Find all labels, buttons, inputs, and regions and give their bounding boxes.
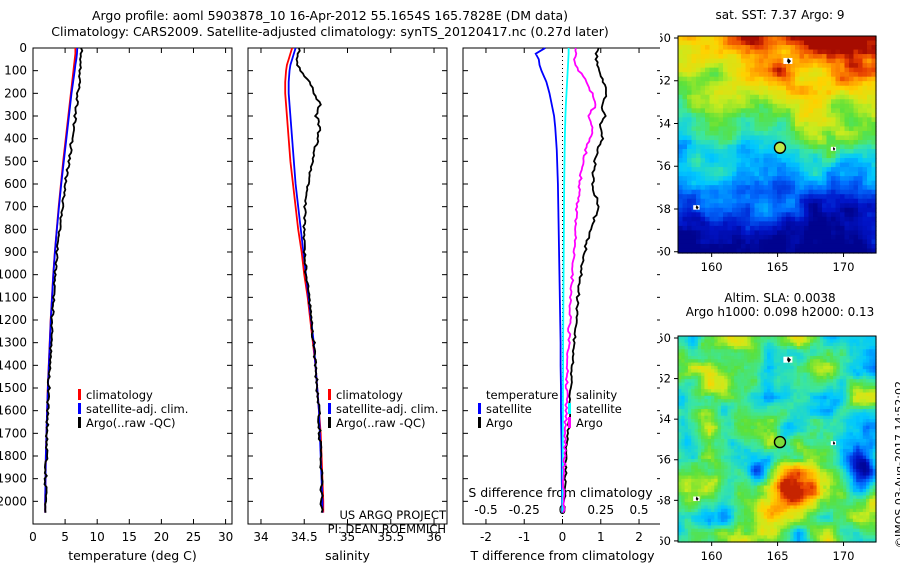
sst-cell <box>687 63 692 68</box>
series-satellite-adj-clim- <box>45 48 77 513</box>
sst-cell <box>822 36 827 41</box>
sst-cell <box>732 131 737 136</box>
sst-cell <box>845 235 850 240</box>
sst-cell <box>809 181 814 186</box>
sst-cell <box>818 194 823 199</box>
sst-cell <box>759 230 764 235</box>
sst-cell <box>782 81 787 86</box>
sst-cell <box>836 203 841 208</box>
sst-cell <box>696 145 701 150</box>
sst-cell <box>863 72 868 77</box>
sst-cell <box>759 77 764 82</box>
sst-cell <box>692 77 697 82</box>
sst-cell <box>719 199 724 204</box>
project-name: US ARGO PROJECT <box>266 508 446 522</box>
sst-cell <box>746 41 751 46</box>
sst-cell <box>692 217 697 222</box>
sst-cell <box>759 86 764 91</box>
sst-cell <box>809 167 814 172</box>
difference-legend-salinity: salinity satellite Argo <box>568 388 622 430</box>
sst-cell <box>777 95 782 100</box>
sst-cell <box>822 104 827 109</box>
sst-cell <box>750 199 755 204</box>
sst-cell <box>728 158 733 163</box>
sst-cell <box>822 99 827 104</box>
sst-cell <box>836 77 841 82</box>
sst-cell <box>705 131 710 136</box>
sst-cell <box>791 154 796 159</box>
map-y-tick-label: -58 <box>660 202 671 216</box>
sst-cell <box>714 244 719 249</box>
sst-cell <box>746 235 751 240</box>
sst-cell <box>719 217 724 222</box>
sst-cell <box>692 72 697 77</box>
sst-cell <box>854 104 859 109</box>
sst-cell <box>728 135 733 140</box>
sst-cell <box>732 77 737 82</box>
sst-cell <box>759 167 764 172</box>
sst-cell <box>858 81 863 86</box>
sst-cell <box>777 217 782 222</box>
sst-cell <box>728 167 733 172</box>
sst-cell <box>809 244 814 249</box>
sst-cell <box>692 122 697 127</box>
sst-cell <box>719 163 724 168</box>
sst-cell <box>746 217 751 222</box>
sst-cell <box>755 86 760 91</box>
sst-cell <box>795 59 800 64</box>
sst-cell <box>786 199 791 204</box>
sst-cell <box>800 135 805 140</box>
sst-cell <box>858 145 863 150</box>
sst-cell <box>849 244 854 249</box>
sst-cell <box>867 185 872 190</box>
sst-cell <box>804 41 809 46</box>
sst-cell <box>809 230 814 235</box>
sst-cell <box>678 140 683 145</box>
sst-cell <box>777 108 782 113</box>
sst-cell <box>750 163 755 168</box>
sst-cell <box>701 122 706 127</box>
sst-cell <box>804 208 809 213</box>
legend-label-t-satellite: satellite <box>486 402 532 416</box>
sst-cell <box>710 86 715 91</box>
sst-cell <box>813 99 818 104</box>
sst-cell <box>701 104 706 109</box>
sst-cell <box>827 59 832 64</box>
sst-cell <box>719 86 724 91</box>
sst-cell <box>804 226 809 231</box>
sst-cell <box>840 226 845 231</box>
sst-cell <box>858 185 863 190</box>
sst-cell <box>782 122 787 127</box>
sst-cell <box>710 185 715 190</box>
sst-cell <box>759 50 764 55</box>
sst-cell <box>759 59 764 64</box>
sst-cell <box>804 108 809 113</box>
sst-cell <box>863 149 868 154</box>
sst-cell <box>701 163 706 168</box>
sst-cell <box>849 122 854 127</box>
sst-cell <box>831 86 836 91</box>
sst-cell <box>782 244 787 249</box>
sst-cell <box>867 194 872 199</box>
sst-cell <box>782 239 787 244</box>
sst-cell <box>728 50 733 55</box>
sst-cell <box>836 181 841 186</box>
sst-cell <box>723 126 728 131</box>
sst-cell <box>804 131 809 136</box>
sst-cell <box>746 90 751 95</box>
sst-cell <box>845 135 850 140</box>
sst-cell <box>719 50 724 55</box>
sst-cell <box>831 203 836 208</box>
sst-cell <box>764 217 769 222</box>
sst-cell <box>710 158 715 163</box>
sst-cell <box>800 95 805 100</box>
sst-cell <box>710 154 715 159</box>
sst-cell <box>845 50 850 55</box>
y-tick-label: 500 <box>4 154 27 168</box>
sst-cell <box>750 154 755 159</box>
legend-item-t-satellite: satellite <box>478 402 558 416</box>
sst-cell <box>710 117 715 122</box>
sst-cell <box>845 244 850 249</box>
sst-cell <box>732 86 737 91</box>
sst-cell <box>773 104 778 109</box>
sst-cell <box>768 176 773 181</box>
sst-cell <box>750 167 755 172</box>
sst-cell <box>678 185 683 190</box>
sst-cell <box>696 68 701 73</box>
sst-cell <box>746 99 751 104</box>
sst-cell <box>719 68 724 73</box>
sst-cell <box>827 36 832 41</box>
sst-cell <box>773 217 778 222</box>
sst-cell <box>692 185 697 190</box>
sst-cell <box>863 163 868 168</box>
sst-cell <box>822 54 827 59</box>
sst-cell <box>710 131 715 136</box>
sst-cell <box>705 90 710 95</box>
sst-cell <box>809 59 814 64</box>
sst-cell <box>854 72 859 77</box>
sst-cell <box>768 108 773 113</box>
sst-cell <box>692 230 697 235</box>
sst-cell <box>791 158 796 163</box>
legend-label-climatology: climatology <box>86 388 153 402</box>
sst-cell <box>773 131 778 136</box>
sst-cell <box>678 212 683 217</box>
sst-cell <box>737 90 742 95</box>
sst-cell <box>809 131 814 136</box>
sst-cell <box>728 208 733 213</box>
sst-cell <box>773 154 778 159</box>
sst-cell <box>800 90 805 95</box>
sst-cell <box>786 158 791 163</box>
sst-cell <box>737 140 742 145</box>
sst-cell <box>719 167 724 172</box>
sst-cell <box>764 145 769 150</box>
sst-cell <box>809 208 814 213</box>
sst-cell <box>773 45 778 50</box>
sst-cell <box>822 95 827 100</box>
sst-cell <box>705 81 710 86</box>
sst-cell <box>795 158 800 163</box>
sst-cell <box>840 172 845 177</box>
sst-cell <box>804 167 809 172</box>
sst-cell <box>854 145 859 150</box>
sst-cell <box>705 122 710 127</box>
sst-cell <box>804 194 809 199</box>
sst-cell <box>696 77 701 82</box>
sst-cell <box>777 221 782 226</box>
float-position-circle[interactable] <box>774 142 785 153</box>
sst-cell <box>728 36 733 41</box>
sst-cell <box>728 140 733 145</box>
sst-cell <box>782 190 787 195</box>
sst-cell <box>867 113 872 118</box>
sst-cell <box>696 41 701 46</box>
sst-cell <box>777 104 782 109</box>
sst-cell <box>867 68 872 73</box>
x-tick-label: -2 <box>480 530 492 544</box>
sst-cell <box>827 99 832 104</box>
sst-cell <box>741 90 746 95</box>
sla-map-svg: -50-52-54-56-58-60160165170 <box>660 300 900 580</box>
sst-cell <box>867 212 872 217</box>
sst-cell <box>840 36 845 41</box>
sst-cell <box>782 131 787 136</box>
sst-cell <box>849 63 854 68</box>
difference-legend-temperature: temperature satellite Argo <box>478 388 558 430</box>
sst-cell <box>768 244 773 249</box>
sst-cell <box>813 190 818 195</box>
sst-cell <box>710 235 715 240</box>
sst-cell <box>683 68 688 73</box>
sst-cell <box>854 99 859 104</box>
sst-cell <box>746 81 751 86</box>
sst-cell <box>809 154 814 159</box>
sst-cell <box>710 181 715 186</box>
sst-cell <box>831 199 836 204</box>
plot-frame <box>33 48 232 524</box>
sst-cell <box>854 50 859 55</box>
sst-cell <box>728 244 733 249</box>
sst-cell <box>728 212 733 217</box>
sst-cell <box>746 95 751 100</box>
sst-cell <box>804 77 809 82</box>
x-tick-label-top: 0.5 <box>629 503 648 517</box>
sst-cell <box>728 217 733 222</box>
sst-cell <box>809 203 814 208</box>
sst-cell <box>840 176 845 181</box>
sst-cell <box>827 108 832 113</box>
sst-cell <box>867 158 872 163</box>
sst-cell <box>813 135 818 140</box>
sst-cell <box>683 135 688 140</box>
sst-cell <box>867 72 872 77</box>
sst-cell <box>867 203 872 208</box>
sst-cell <box>750 36 755 41</box>
sst-cell <box>831 181 836 186</box>
sst-cell <box>867 99 872 104</box>
sst-cell <box>732 68 737 73</box>
sst-cell <box>746 113 751 118</box>
sst-cell <box>714 113 719 118</box>
sst-cell <box>845 117 850 122</box>
sst-cell <box>755 54 760 59</box>
sst-cell <box>710 81 715 86</box>
sst-cell <box>705 117 710 122</box>
sst-cell <box>777 41 782 46</box>
sst-cell <box>854 244 859 249</box>
sst-cell <box>741 126 746 131</box>
sst-cell <box>696 54 701 59</box>
sst-cell <box>822 217 827 222</box>
sst-cell <box>809 72 814 77</box>
sst-cell <box>863 221 868 226</box>
sst-cell <box>759 63 764 68</box>
sst-cell <box>687 54 692 59</box>
sst-cell <box>678 117 683 122</box>
sst-cell <box>687 86 692 91</box>
sst-cell <box>737 72 742 77</box>
sst-cell <box>836 50 841 55</box>
sst-cell <box>867 131 872 136</box>
sst-cell <box>741 77 746 82</box>
sst-cell <box>723 63 728 68</box>
sst-cell <box>678 217 683 222</box>
sst-cell <box>863 235 868 240</box>
sst-cell <box>759 226 764 231</box>
sst-cell <box>840 54 845 59</box>
sst-cell <box>849 221 854 226</box>
sst-cell <box>818 235 823 240</box>
sst-cell <box>723 113 728 118</box>
sst-cell <box>723 140 728 145</box>
sst-cell <box>818 176 823 181</box>
sst-cell <box>818 90 823 95</box>
sst-cell <box>687 135 692 140</box>
sst-cell <box>822 41 827 46</box>
sst-cell <box>845 199 850 204</box>
sst-cell <box>831 99 836 104</box>
sst-cell <box>845 154 850 159</box>
sst-cell <box>683 95 688 100</box>
sst-cell <box>678 104 683 109</box>
sst-cell <box>719 235 724 240</box>
x-tick-label: 0 <box>559 530 567 544</box>
sst-cell <box>804 95 809 100</box>
sst-cell <box>831 176 836 181</box>
sst-cell <box>849 108 854 113</box>
sst-cell <box>809 190 814 195</box>
sst-cell <box>795 167 800 172</box>
sst-cell <box>845 217 850 222</box>
sst-cell <box>701 239 706 244</box>
sst-cell <box>777 194 782 199</box>
sst-cell <box>795 221 800 226</box>
map-y-tick-label: -54 <box>660 116 671 130</box>
sst-cell <box>741 104 746 109</box>
sst-cell <box>714 167 719 172</box>
sst-cell <box>746 244 751 249</box>
sst-cell <box>750 77 755 82</box>
sst-cell <box>683 122 688 127</box>
sst-cell <box>764 90 769 95</box>
sst-cell <box>678 176 683 181</box>
legend-item-climatology: climatology <box>78 388 188 402</box>
sst-cell <box>755 81 760 86</box>
sst-cell <box>786 172 791 177</box>
sst-cell <box>800 149 805 154</box>
sst-cell <box>714 135 719 140</box>
sst-cell <box>845 158 850 163</box>
sst-cell <box>849 90 854 95</box>
sst-cell <box>741 226 746 231</box>
sst-cell <box>858 230 863 235</box>
sst-cell <box>795 50 800 55</box>
sst-cell <box>759 45 764 50</box>
sst-cell <box>795 90 800 95</box>
sst-cell <box>840 90 845 95</box>
sst-cell <box>818 163 823 168</box>
sst-cell <box>813 126 818 131</box>
sst-cell <box>813 154 818 159</box>
sst-cell <box>768 99 773 104</box>
sst-cell <box>818 140 823 145</box>
sst-cell <box>741 154 746 159</box>
sst-cell <box>863 190 868 195</box>
sst-cell <box>683 235 688 240</box>
sst-cell <box>836 235 841 240</box>
sst-cell <box>732 208 737 213</box>
sst-cell <box>714 235 719 240</box>
sst-cell <box>849 226 854 231</box>
sst-cell <box>836 208 841 213</box>
sst-cell <box>755 59 760 64</box>
sst-cell <box>867 181 872 186</box>
sst-cell <box>809 145 814 150</box>
x-axis-label: temperature (deg C) <box>68 548 197 563</box>
sst-cell <box>773 50 778 55</box>
sst-cell <box>813 117 818 122</box>
sst-cell <box>728 181 733 186</box>
sst-cell <box>777 68 782 73</box>
sst-cell <box>723 185 728 190</box>
sst-cell <box>836 244 841 249</box>
sst-cell <box>750 68 755 73</box>
sst-cell <box>701 99 706 104</box>
sst-cell <box>809 104 814 109</box>
sst-cell <box>863 50 868 55</box>
sst-cell <box>759 190 764 195</box>
sst-cell <box>719 212 724 217</box>
sst-cell <box>782 212 787 217</box>
sst-cell <box>791 194 796 199</box>
sst-cell <box>777 190 782 195</box>
sst-cell <box>714 126 719 131</box>
sst-cell <box>777 167 782 172</box>
sst-cell <box>746 158 751 163</box>
sst-cell <box>732 122 737 127</box>
sst-cell <box>854 131 859 136</box>
sst-cell <box>714 172 719 177</box>
legend-label-t-argo: Argo <box>486 416 513 430</box>
sst-cell <box>831 54 836 59</box>
sst-cell <box>800 45 805 50</box>
